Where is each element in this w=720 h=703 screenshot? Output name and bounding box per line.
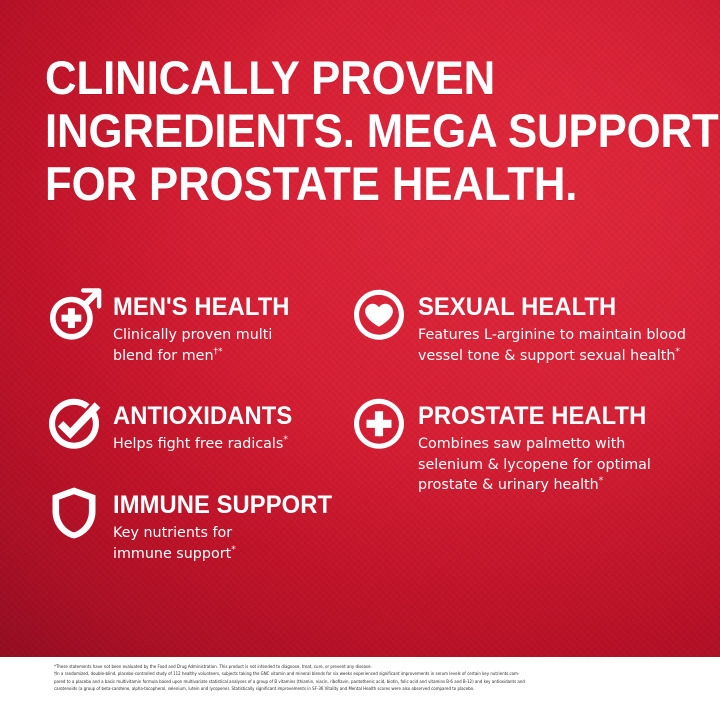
- shield-icon: [45, 484, 103, 542]
- infographic-page: CLINICALLY PROVEN INGREDIENTS. MEGA SUPP…: [0, 0, 720, 703]
- feature-desc-line-1: Helps fight free radicals: [113, 436, 283, 452]
- feature-title: PROSTATE HEALTH: [418, 395, 676, 430]
- check-circle-icon: [45, 395, 103, 453]
- feature-desc-superscript: *: [599, 476, 604, 486]
- disclaimer-line-3: pared to a placebo and a basic multivita…: [54, 678, 674, 685]
- feature-description: Features L-arginine to maintain blood ve…: [418, 321, 690, 366]
- feature-desc-line-3: prostate & urinary health: [418, 477, 599, 493]
- headline-line-2: INGREDIENTS. MEGA SUPPORT: [45, 104, 640, 157]
- feature-desc-line-2: selenium & lycopene for optimal: [418, 457, 651, 473]
- disclaimer-line-2: †In a randomized, double-blind, placebo-…: [54, 670, 674, 677]
- feature-description: Combines saw palmetto with selenium & ly…: [418, 430, 690, 496]
- feature-title: ANTIOXIDANTS: [113, 395, 333, 430]
- feature-immune-support-body: IMMUNE SUPPORT Key nutrients for immune …: [113, 484, 345, 564]
- disclaimer-line-1: *These statements have not been evaluate…: [54, 663, 674, 670]
- feature-title: SEXUAL HEALTH: [418, 286, 676, 321]
- feature-description: Helps fight free radicals*: [113, 430, 345, 455]
- feature-sexual-health: SEXUAL HEALTH Features L-arginine to mai…: [350, 286, 690, 366]
- feature-title: MEN'S HEALTH: [113, 286, 333, 321]
- feature-desc-superscript: *: [675, 347, 680, 357]
- footer-band: *These statements have not been evaluate…: [0, 657, 720, 703]
- feature-prostate-health-body: PROSTATE HEALTH Combines saw palmetto wi…: [418, 395, 690, 496]
- feature-description: Clinically proven multi blend for men†*: [113, 321, 345, 366]
- headline-line-1: CLINICALLY PROVEN: [45, 51, 640, 104]
- feature-desc-line-2: vessel tone & support sexual health: [418, 348, 675, 364]
- feature-column-left: MEN'S HEALTH Clinically proven multi ble…: [45, 286, 345, 564]
- feature-column-right: SEXUAL HEALTH Features L-arginine to mai…: [350, 286, 690, 496]
- feature-title: IMMUNE SUPPORT: [113, 484, 333, 519]
- feature-description: Key nutrients for immune support*: [113, 519, 345, 564]
- headline: CLINICALLY PROVEN INGREDIENTS. MEGA SUPP…: [45, 51, 640, 210]
- headline-line-3: FOR PROSTATE HEALTH.: [45, 157, 640, 210]
- feature-prostate-health: PROSTATE HEALTH Combines saw palmetto wi…: [350, 395, 690, 496]
- feature-desc-superscript: *: [283, 435, 288, 445]
- feature-desc-line-2: immune support: [113, 546, 231, 562]
- feature-desc-superscript: *: [231, 545, 236, 555]
- medical-cross-circle-icon: [350, 395, 408, 453]
- feature-desc-line-1: Features L-arginine to maintain blood: [418, 327, 686, 343]
- feature-mens-health: MEN'S HEALTH Clinically proven multi ble…: [45, 286, 345, 366]
- feature-mens-health-body: MEN'S HEALTH Clinically proven multi ble…: [113, 286, 345, 366]
- feature-sexual-health-body: SEXUAL HEALTH Features L-arginine to mai…: [418, 286, 690, 366]
- feature-desc-superscript: †*: [214, 347, 223, 357]
- male-symbol-cross-icon: [45, 286, 103, 344]
- feature-antioxidants-body: ANTIOXIDANTS Helps fight free radicals*: [113, 395, 345, 455]
- disclaimer-line-4: carotenoids (a group of beta-carotene, a…: [54, 685, 674, 692]
- feature-antioxidants: ANTIOXIDANTS Helps fight free radicals*: [45, 395, 345, 455]
- feature-desc-line-1: Clinically proven multi: [113, 327, 272, 343]
- feature-immune-support: IMMUNE SUPPORT Key nutrients for immune …: [45, 484, 345, 564]
- feature-desc-line-1: Combines saw palmetto with: [418, 436, 625, 452]
- feature-desc-line-1: Key nutrients for: [113, 525, 232, 541]
- feature-desc-line-2: blend for men: [113, 348, 214, 364]
- legal-disclaimer: *These statements have not been evaluate…: [54, 663, 674, 693]
- heart-circle-icon: [350, 286, 408, 344]
